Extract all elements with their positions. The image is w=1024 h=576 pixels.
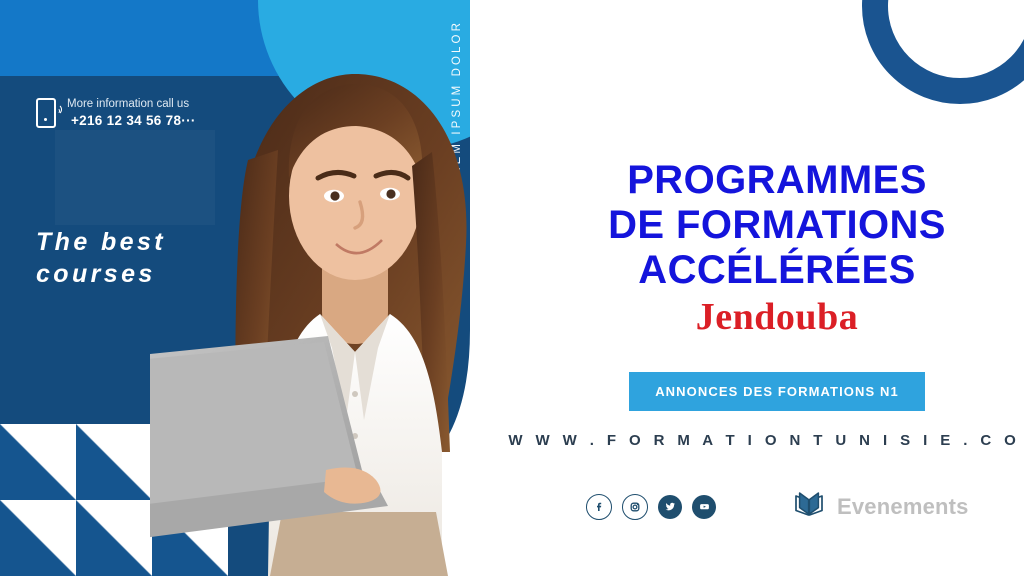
website-url[interactable]: W W W . F O R M A T I O N T U N I S I E … (508, 432, 1024, 449)
promo-banner: More information call us +216 12 34 56 7… (0, 0, 1024, 576)
youtube-icon[interactable] (692, 495, 716, 519)
announcements-button[interactable]: ANNONCES DES FORMATIONS N1 (629, 372, 925, 411)
brand-lockup: Evenements (792, 487, 969, 526)
tagline: The best courses (36, 226, 166, 290)
open-book-icon (792, 487, 826, 526)
footer-bar: Evenements (530, 487, 1024, 526)
headline-line-2: DE FORMATIONS (608, 203, 946, 248)
instagram-icon[interactable] (622, 494, 648, 520)
tagline-line-2: courses (36, 258, 166, 290)
city-name: Jendouba (696, 298, 858, 336)
content-column: PROGRAMMES DE FORMATIONS ACCÉLÉRÉES Jend… (530, 0, 1024, 576)
presenter-photo (150, 0, 570, 576)
social-links (586, 494, 716, 520)
page-title: PROGRAMMES DE FORMATIONS ACCÉLÉRÉES (608, 158, 946, 292)
mobile-phone-icon (36, 96, 56, 130)
headline-line-3: ACCÉLÉRÉES (608, 248, 946, 293)
tagline-line-1: The best (36, 226, 166, 258)
twitter-icon[interactable] (658, 495, 682, 519)
facebook-icon[interactable] (586, 494, 612, 520)
headline-line-1: PROGRAMMES (608, 158, 946, 203)
brand-name: Evenements (837, 494, 969, 520)
